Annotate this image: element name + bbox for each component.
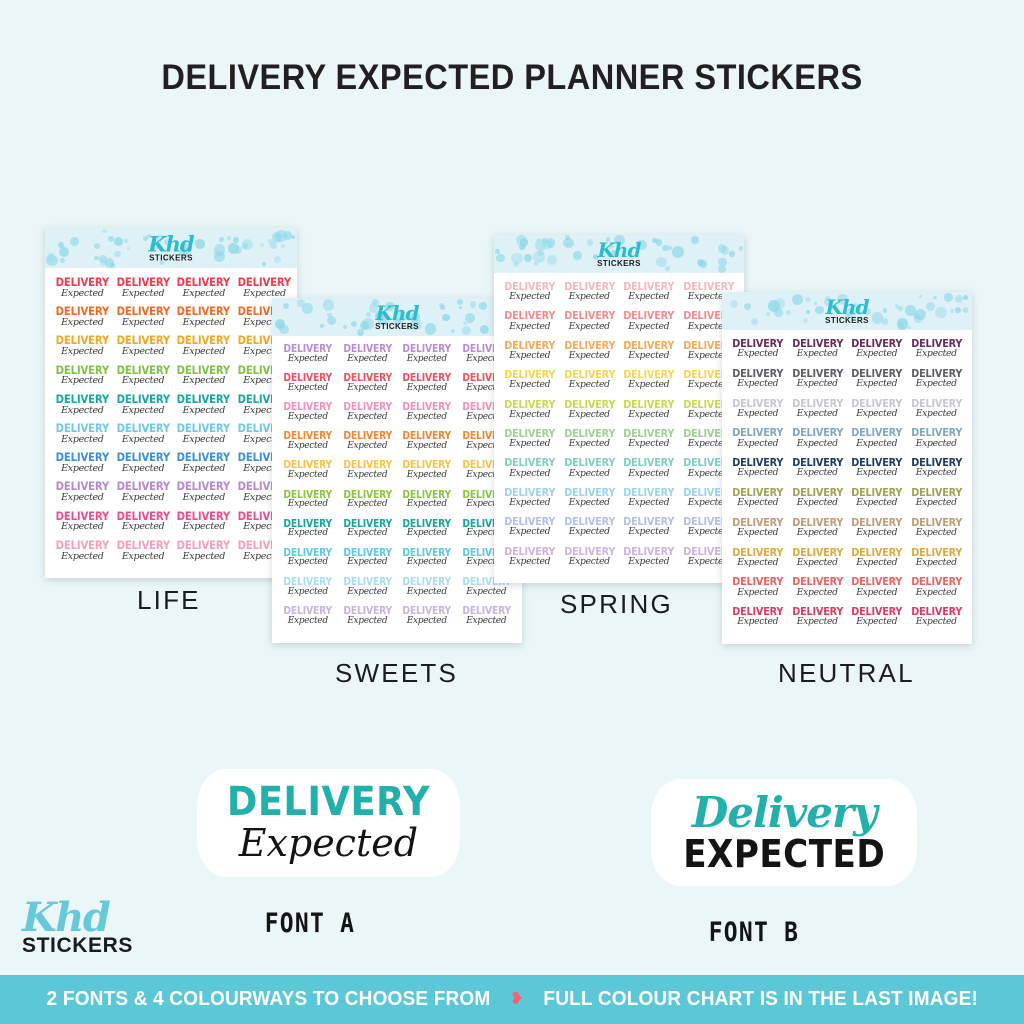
sticker-sheet-spring: KhdSTICKERSDELIVERYExpectedDELIVERYExpec… [494, 235, 744, 583]
sticker-life-r8-c1[interactable]: DELIVERYExpected [52, 481, 113, 510]
sticker-sweets-r10-c1[interactable]: DELIVERYExpected [278, 606, 338, 635]
sticker-neutral-r1-c4[interactable]: DELIVERYExpected [907, 338, 967, 368]
dot-decoration [587, 239, 594, 246]
sticker-line2: Expected [788, 439, 848, 448]
sticker-sweets-r8-c2[interactable]: DELIVERYExpected [338, 548, 398, 577]
sticker-line2: Expected [560, 557, 620, 566]
sticker-neutral-r8-c4[interactable]: DELIVERYExpected [907, 547, 967, 577]
font-b-line2: EXPECTED [683, 835, 885, 873]
sheet-brand-logo: KhdSTICKERS [825, 297, 869, 325]
sticker-neutral-r4-c4[interactable]: DELIVERYExpected [907, 427, 967, 457]
sticker-line2: Expected [500, 439, 560, 448]
sticker-line1: DELIVERY [282, 402, 334, 413]
sticker-line1: DELIVERY [732, 487, 784, 498]
sticker-spring-r10-c2[interactable]: DELIVERYExpected [560, 546, 620, 575]
sticker-line2: Expected [500, 527, 560, 536]
sticker-line1: DELIVERY [177, 335, 230, 347]
dot-decoration [233, 237, 239, 243]
dot-decoration [124, 239, 128, 243]
sticker-line2: Expected [173, 289, 234, 299]
dot-decoration [281, 244, 285, 248]
sticker-neutral-r4-c1[interactable]: DELIVERYExpected [728, 427, 788, 457]
dot-decoration [933, 296, 937, 300]
sheet-brand-mark: Khd [375, 303, 419, 323]
sticker-neutral-r9-c2[interactable]: DELIVERYExpected [788, 576, 848, 606]
sticker-grid: DELIVERYExpectedDELIVERYExpectedDELIVERY… [272, 336, 522, 643]
sticker-spring-r4-c2[interactable]: DELIVERYExpected [560, 369, 620, 398]
sticker-neutral-r9-c3[interactable]: DELIVERYExpected [847, 576, 907, 606]
dot-decoration [262, 262, 267, 267]
sticker-line1: DELIVERY [732, 368, 784, 379]
sticker-neutral-r7-c2[interactable]: DELIVERYExpected [788, 517, 848, 547]
dot-decoration [656, 239, 662, 245]
brand-watermark: Khd STICKERS [22, 898, 133, 956]
bottom-banner: 2 FONTS & 4 COLOURWAYS TO CHOOSE FROM ❥ … [0, 975, 1024, 1024]
sticker-line1: DELIVERY [282, 344, 334, 355]
sticker-line2: Expected [907, 349, 967, 358]
sticker-line2: Expected [52, 522, 113, 532]
sticker-spring-r5-c3[interactable]: DELIVERYExpected [619, 399, 679, 428]
dot-decoration [751, 318, 758, 325]
sticker-sweets-r4-c2[interactable]: DELIVERYExpected [338, 431, 398, 460]
sticker-line1: DELIVERY [401, 490, 453, 501]
sticker-line1: DELIVERY [623, 428, 675, 439]
sticker-line1: DELIVERY [504, 457, 556, 468]
sticker-life-r9-c1[interactable]: DELIVERYExpected [52, 511, 113, 540]
sticker-spring-r9-c2[interactable]: DELIVERYExpected [560, 516, 620, 545]
sticker-line1: DELIVERY [563, 546, 615, 557]
sticker-line2: Expected [619, 469, 679, 478]
sticker-line1: DELIVERY [623, 281, 675, 292]
sheet-brand-wordmark: STICKERS [148, 255, 193, 263]
sticker-line1: DELIVERY [401, 373, 453, 384]
dot-decoration [806, 310, 811, 315]
sticker-line2: Expected [278, 500, 338, 509]
sheet-brand-mark: Khd [825, 297, 869, 317]
sticker-neutral-r3-c3[interactable]: DELIVERYExpected [847, 398, 907, 428]
font-a-caption: FONT A [217, 908, 404, 939]
sticker-life-r9-c3[interactable]: DELIVERYExpected [173, 511, 234, 540]
sticker-line1: DELIVERY [341, 548, 393, 559]
sticker-sweets-r3-c2[interactable]: DELIVERYExpected [338, 402, 398, 431]
dot-decoration [275, 230, 287, 242]
sticker-neutral-r4-c2[interactable]: DELIVERYExpected [788, 427, 848, 457]
sticker-spring-r7-c1[interactable]: DELIVERYExpected [500, 457, 560, 486]
sticker-spring-r10-c3[interactable]: DELIVERYExpected [619, 546, 679, 575]
sticker-life-r3-c2[interactable]: DELIVERYExpected [113, 335, 174, 364]
sticker-life-r9-c2[interactable]: DELIVERYExpected [113, 511, 174, 540]
sticker-spring-r6-c3[interactable]: DELIVERYExpected [619, 428, 679, 457]
dot-decoration [718, 265, 726, 273]
dot-decoration [955, 295, 964, 304]
dot-decoration [496, 254, 505, 263]
sticker-life-r6-c2[interactable]: DELIVERYExpected [113, 423, 174, 452]
dot-decoration [926, 302, 935, 311]
sticker-line2: Expected [619, 322, 679, 331]
sticker-line2: Expected [52, 318, 113, 328]
sticker-line1: DELIVERY [623, 516, 675, 527]
sticker-line1: DELIVERY [116, 306, 169, 318]
sticker-sweets-r3-c1[interactable]: DELIVERYExpected [278, 402, 338, 431]
sticker-spring-r8-c1[interactable]: DELIVERYExpected [500, 487, 560, 516]
sticker-neutral-r5-c4[interactable]: DELIVERYExpected [907, 457, 967, 487]
sticker-line1: DELIVERY [504, 516, 556, 527]
sticker-neutral-r9-c1[interactable]: DELIVERYExpected [728, 576, 788, 606]
sticker-line1: DELIVERY [791, 368, 843, 379]
sticker-line1: DELIVERY [910, 457, 962, 468]
sticker-line2: Expected [728, 349, 788, 358]
sheet-brand-wordmark: STICKERS [597, 260, 641, 268]
sticker-line2: Expected [338, 471, 398, 480]
sticker-line2: Expected [278, 471, 338, 480]
banner-text-right: FULL COLOUR CHART IS IN THE LAST IMAGE! [543, 988, 978, 1011]
dot-decoration [935, 307, 947, 319]
sticker-line2: Expected [847, 379, 907, 388]
sticker-neutral-r6-c3[interactable]: DELIVERYExpected [847, 487, 907, 517]
sticker-line1: DELIVERY [910, 368, 962, 379]
dot-decoration [546, 238, 555, 247]
dot-decoration [323, 299, 334, 310]
sticker-line2: Expected [338, 442, 398, 451]
sticker-line1: DELIVERY [910, 427, 962, 438]
sticker-neutral-r2-c2[interactable]: DELIVERYExpected [788, 368, 848, 398]
sheet-header-band: KhdSTICKERS [494, 235, 744, 273]
sticker-life-r1-c1[interactable]: DELIVERYExpected [52, 277, 113, 306]
sticker-life-r7-c3[interactable]: DELIVERYExpected [173, 452, 234, 481]
sticker-line1: DELIVERY [177, 452, 230, 464]
sticker-spring-r5-c1[interactable]: DELIVERYExpected [500, 399, 560, 428]
dot-decoration [302, 303, 313, 314]
sticker-neutral-r9-c4[interactable]: DELIVERYExpected [907, 576, 967, 606]
sticker-spring-r5-c2[interactable]: DELIVERYExpected [560, 399, 620, 428]
sticker-line1: DELIVERY [282, 373, 334, 384]
sticker-spring-r10-c1[interactable]: DELIVERYExpected [500, 546, 560, 575]
sticker-life-r2-c3[interactable]: DELIVERYExpected [173, 306, 234, 335]
sheet-header-band: KhdSTICKERS [45, 228, 297, 268]
sticker-life-r2-c1[interactable]: DELIVERYExpected [52, 306, 113, 335]
sticker-spring-r1-c3[interactable]: DELIVERYExpected [619, 281, 679, 310]
sticker-sweets-r8-c1[interactable]: DELIVERYExpected [278, 548, 338, 577]
sticker-neutral-r4-c3[interactable]: DELIVERYExpected [847, 427, 907, 457]
sticker-life-r1-c3[interactable]: DELIVERYExpected [173, 277, 234, 306]
sticker-line2: Expected [619, 351, 679, 360]
sticker-line2: Expected [113, 318, 174, 328]
sticker-spring-r3-c3[interactable]: DELIVERYExpected [619, 340, 679, 369]
sticker-line2: Expected [847, 409, 907, 418]
sticker-sweets-r5-c1[interactable]: DELIVERYExpected [278, 460, 338, 489]
sticker-sweets-r6-c1[interactable]: DELIVERYExpected [278, 490, 338, 519]
sticker-line1: DELIVERY [504, 340, 556, 351]
dot-decoration [908, 326, 912, 330]
sticker-neutral-r2-c4[interactable]: DELIVERYExpected [907, 368, 967, 398]
sticker-line2: Expected [397, 529, 457, 538]
sticker-neutral-r3-c2[interactable]: DELIVERYExpected [788, 398, 848, 428]
sticker-line1: DELIVERY [851, 338, 903, 349]
sticker-line1: DELIVERY [116, 481, 169, 493]
sticker-spring-r7-c3[interactable]: DELIVERYExpected [619, 457, 679, 486]
dot-decoration [547, 255, 557, 265]
sticker-line1: DELIVERY [732, 576, 784, 587]
sticker-sweets-r2-c1[interactable]: DELIVERYExpected [278, 373, 338, 402]
sticker-life-r3-c3[interactable]: DELIVERYExpected [173, 335, 234, 364]
sticker-spring-r1-c1[interactable]: DELIVERYExpected [500, 281, 560, 310]
sticker-neutral-r1-c2[interactable]: DELIVERYExpected [788, 338, 848, 368]
sticker-sweets-r7-c3[interactable]: DELIVERYExpected [397, 519, 457, 548]
sticker-life-r6-c1[interactable]: DELIVERYExpected [52, 423, 113, 452]
dot-decoration [425, 323, 437, 335]
sticker-line2: Expected [278, 413, 338, 422]
sticker-line2: Expected [113, 522, 174, 532]
sticker-line1: DELIVERY [401, 548, 453, 559]
sticker-line1: DELIVERY [56, 365, 109, 377]
dot-decoration [94, 256, 99, 261]
sticker-line2: Expected [728, 379, 788, 388]
sticker-sweets-r7-c1[interactable]: DELIVERYExpected [278, 519, 338, 548]
sticker-line2: Expected [500, 322, 560, 331]
sticker-line2: Expected [847, 468, 907, 477]
sticker-sweets-r7-c2[interactable]: DELIVERYExpected [338, 519, 398, 548]
sticker-spring-r3-c1[interactable]: DELIVERYExpected [500, 340, 560, 369]
sticker-life-r5-c2[interactable]: DELIVERYExpected [113, 394, 174, 423]
sticker-line2: Expected [728, 468, 788, 477]
sticker-line2: Expected [397, 355, 457, 364]
sticker-neutral-r6-c2[interactable]: DELIVERYExpected [788, 487, 848, 517]
sticker-sweets-r4-c1[interactable]: DELIVERYExpected [278, 431, 338, 460]
sheet-label-sweets: SWEETS [335, 658, 458, 689]
sticker-sweets-r10-c4[interactable]: DELIVERYExpected [457, 606, 517, 635]
sticker-line1: DELIVERY [732, 606, 784, 617]
sticker-line2: Expected [397, 384, 457, 393]
dot-decoration [963, 307, 969, 313]
sticker-life-r8-c2[interactable]: DELIVERYExpected [113, 481, 174, 510]
sticker-life-r10-c3[interactable]: DELIVERYExpected [173, 540, 234, 569]
sticker-spring-r8-c2[interactable]: DELIVERYExpected [560, 487, 620, 516]
sticker-sweets-r1-c2[interactable]: DELIVERYExpected [338, 344, 398, 373]
sticker-neutral-r3-c1[interactable]: DELIVERYExpected [728, 398, 788, 428]
sticker-sweets-r9-c1[interactable]: DELIVERYExpected [278, 577, 338, 606]
sticker-line1: DELIVERY [851, 576, 903, 587]
dot-decoration [739, 246, 742, 249]
sticker-life-r8-c3[interactable]: DELIVERYExpected [173, 481, 234, 510]
sticker-line2: Expected [52, 347, 113, 357]
brand-mark: Khd [22, 898, 133, 938]
sticker-spring-r2-c1[interactable]: DELIVERYExpected [500, 310, 560, 339]
sticker-sheet-sweets: KhdSTICKERSDELIVERYExpectedDELIVERYExpec… [272, 298, 522, 643]
sticker-life-r3-c1[interactable]: DELIVERYExpected [52, 335, 113, 364]
sticker-neutral-r10-c2[interactable]: DELIVERYExpected [788, 606, 848, 636]
sticker-spring-r1-c2[interactable]: DELIVERYExpected [560, 281, 620, 310]
dot-decoration [242, 239, 254, 251]
dot-decoration [786, 310, 791, 315]
sticker-life-r7-c1[interactable]: DELIVERYExpected [52, 452, 113, 481]
sticker-line1: DELIVERY [623, 340, 675, 351]
sticker-sweets-r1-c3[interactable]: DELIVERYExpected [397, 344, 457, 373]
dot-decoration [268, 239, 272, 243]
sticker-line1: DELIVERY [56, 452, 109, 464]
sticker-neutral-r3-c4[interactable]: DELIVERYExpected [907, 398, 967, 428]
sticker-sweets-r2-c3[interactable]: DELIVERYExpected [397, 373, 457, 402]
sticker-life-r4-c3[interactable]: DELIVERYExpected [173, 365, 234, 394]
sticker-line2: Expected [907, 409, 967, 418]
font-b-sticker-art: Delivery EXPECTED [654, 782, 914, 883]
sticker-line2: Expected [500, 557, 560, 566]
sticker-line1: DELIVERY [282, 490, 334, 501]
sticker-sweets-r9-c3[interactable]: DELIVERYExpected [397, 577, 457, 606]
sticker-line1: DELIVERY [401, 606, 453, 617]
sticker-line2: Expected [788, 349, 848, 358]
sticker-sweets-r10-c3[interactable]: DELIVERYExpected [397, 606, 457, 635]
brand-wordmark: STICKERS [22, 935, 133, 956]
sticker-spring-r2-c3[interactable]: DELIVERYExpected [619, 310, 679, 339]
sticker-neutral-r10-c1[interactable]: DELIVERYExpected [728, 606, 788, 636]
dot-decoration [219, 237, 224, 242]
dot-decoration [744, 303, 751, 310]
sticker-line1: DELIVERY [341, 373, 393, 384]
sticker-neutral-r1-c3[interactable]: DELIVERYExpected [847, 338, 907, 368]
sticker-line1: DELIVERY [56, 277, 109, 289]
sticker-neutral-r6-c1[interactable]: DELIVERYExpected [728, 487, 788, 517]
dot-decoration [195, 239, 204, 248]
sticker-line2: Expected [907, 528, 967, 537]
sticker-grid: DELIVERYExpectedDELIVERYExpectedDELIVERY… [494, 273, 744, 583]
dot-decoration [260, 243, 264, 247]
sticker-neutral-r8-c3[interactable]: DELIVERYExpected [847, 547, 907, 577]
sticker-line1: DELIVERY [401, 519, 453, 530]
sticker-line1: DELIVERY [177, 306, 230, 318]
sticker-line2: Expected [847, 528, 907, 537]
sticker-line2: Expected [907, 588, 967, 597]
dot-decoration [533, 251, 545, 263]
dot-decoration [729, 251, 735, 257]
sticker-neutral-r10-c3[interactable]: DELIVERYExpected [847, 606, 907, 636]
sticker-sweets-r10-c2[interactable]: DELIVERYExpected [338, 606, 398, 635]
sticker-life-r5-c1[interactable]: DELIVERYExpected [52, 394, 113, 423]
sticker-spring-r8-c3[interactable]: DELIVERYExpected [619, 487, 679, 516]
sticker-spring-r9-c3[interactable]: DELIVERYExpected [619, 516, 679, 545]
sticker-line2: Expected [113, 493, 174, 503]
sticker-life-r4-c2[interactable]: DELIVERYExpected [113, 365, 174, 394]
sticker-neutral-r5-c1[interactable]: DELIVERYExpected [728, 457, 788, 487]
sticker-neutral-r2-c3[interactable]: DELIVERYExpected [847, 368, 907, 398]
dot-decoration [227, 236, 231, 240]
sticker-line1: DELIVERY [56, 394, 109, 406]
sticker-neutral-r8-c1[interactable]: DELIVERYExpected [728, 547, 788, 577]
sticker-line1: DELIVERY [791, 398, 843, 409]
sticker-line1: DELIVERY [791, 487, 843, 498]
sticker-spring-r9-c1[interactable]: DELIVERYExpected [500, 516, 560, 545]
sticker-spring-r6-c1[interactable]: DELIVERYExpected [500, 428, 560, 457]
dot-decoration [457, 299, 463, 305]
sheet-label-spring: SPRING [560, 589, 673, 620]
sticker-line2: Expected [560, 439, 620, 448]
sticker-life-r1-c2[interactable]: DELIVERYExpected [113, 277, 174, 306]
dot-decoration [47, 253, 55, 261]
sticker-line1: DELIVERY [504, 310, 556, 321]
sticker-line1: DELIVERY [56, 335, 109, 347]
sticker-line1: DELIVERY [116, 540, 169, 552]
sticker-life-r10-c1[interactable]: DELIVERYExpected [52, 540, 113, 569]
sticker-sweets-r8-c3[interactable]: DELIVERYExpected [397, 548, 457, 577]
sticker-line2: Expected [788, 409, 848, 418]
sticker-line1: DELIVERY [116, 423, 169, 435]
sticker-spring-r6-c2[interactable]: DELIVERYExpected [560, 428, 620, 457]
sticker-sweets-r6-c3[interactable]: DELIVERYExpected [397, 490, 457, 519]
sticker-line2: Expected [278, 355, 338, 364]
sticker-neutral-r8-c2[interactable]: DELIVERYExpected [788, 547, 848, 577]
sticker-spring-r4-c1[interactable]: DELIVERYExpected [500, 369, 560, 398]
sticker-spring-r7-c2[interactable]: DELIVERYExpected [560, 457, 620, 486]
sticker-line2: Expected [560, 410, 620, 419]
dot-decoration [775, 298, 786, 309]
sticker-neutral-r1-c1[interactable]: DELIVERYExpected [728, 338, 788, 368]
sticker-line2: Expected [457, 617, 517, 626]
sticker-life-r2-c2[interactable]: DELIVERYExpected [113, 306, 174, 335]
sticker-sweets-r6-c2[interactable]: DELIVERYExpected [338, 490, 398, 519]
sticker-sweets-r5-c3[interactable]: DELIVERYExpected [397, 460, 457, 489]
sticker-neutral-r10-c4[interactable]: DELIVERYExpected [907, 606, 967, 636]
sheet-label-neutral: NEUTRAL [778, 658, 915, 689]
sticker-spring-r4-c3[interactable]: DELIVERYExpected [619, 369, 679, 398]
sticker-neutral-r5-c2[interactable]: DELIVERYExpected [788, 457, 848, 487]
sticker-life-r4-c1[interactable]: DELIVERYExpected [52, 365, 113, 394]
sticker-neutral-r7-c4[interactable]: DELIVERYExpected [907, 517, 967, 547]
sticker-line1: DELIVERY [116, 365, 169, 377]
sticker-line2: Expected [788, 588, 848, 597]
sticker-line1: DELIVERY [791, 427, 843, 438]
sticker-sweets-r4-c3[interactable]: DELIVERYExpected [397, 431, 457, 460]
sticker-line2: Expected [113, 406, 174, 416]
sticker-line2: Expected [397, 471, 457, 480]
sticker-life-r5-c3[interactable]: DELIVERYExpected [173, 394, 234, 423]
sticker-line2: Expected [847, 439, 907, 448]
sticker-sweets-r1-c1[interactable]: DELIVERYExpected [278, 344, 338, 373]
sticker-neutral-r5-c3[interactable]: DELIVERYExpected [847, 457, 907, 487]
sticker-sweets-r2-c2[interactable]: DELIVERYExpected [338, 373, 398, 402]
sticker-life-r10-c2[interactable]: DELIVERYExpected [113, 540, 174, 569]
sticker-line2: Expected [278, 529, 338, 538]
sticker-life-r6-c3[interactable]: DELIVERYExpected [173, 423, 234, 452]
sticker-line1: DELIVERY [851, 487, 903, 498]
sticker-neutral-r6-c4[interactable]: DELIVERYExpected [907, 487, 967, 517]
sticker-line2: Expected [338, 617, 398, 626]
dot-decoration [805, 297, 811, 303]
sticker-line2: Expected [397, 413, 457, 422]
dot-decoration [691, 236, 699, 244]
sticker-line1: DELIVERY [177, 511, 230, 523]
sticker-life-r7-c2[interactable]: DELIVERYExpected [113, 452, 174, 481]
sticker-sweets-r5-c2[interactable]: DELIVERYExpected [338, 460, 398, 489]
font-sample-b: Delivery EXPECTED FONT B [654, 782, 854, 948]
sticker-sweets-r3-c3[interactable]: DELIVERYExpected [397, 402, 457, 431]
sticker-line1: DELIVERY [623, 487, 675, 498]
dot-decoration [70, 237, 79, 246]
sticker-line2: Expected [847, 498, 907, 507]
sticker-neutral-r2-c1[interactable]: DELIVERYExpected [728, 368, 788, 398]
sticker-spring-r3-c2[interactable]: DELIVERYExpected [560, 340, 620, 369]
sticker-line2: Expected [560, 498, 620, 507]
sticker-line2: Expected [113, 552, 174, 562]
sticker-line1: DELIVERY [910, 338, 962, 349]
sticker-line2: Expected [113, 376, 174, 386]
sticker-spring-r2-c2[interactable]: DELIVERYExpected [560, 310, 620, 339]
sheet-header-band: KhdSTICKERS [272, 298, 522, 336]
sticker-line2: Expected [173, 318, 234, 328]
sticker-line1: DELIVERY [177, 540, 230, 552]
sticker-neutral-r7-c3[interactable]: DELIVERYExpected [847, 517, 907, 547]
sticker-sweets-r9-c2[interactable]: DELIVERYExpected [338, 577, 398, 606]
sticker-line1: DELIVERY [341, 344, 393, 355]
sticker-neutral-r7-c1[interactable]: DELIVERYExpected [728, 517, 788, 547]
